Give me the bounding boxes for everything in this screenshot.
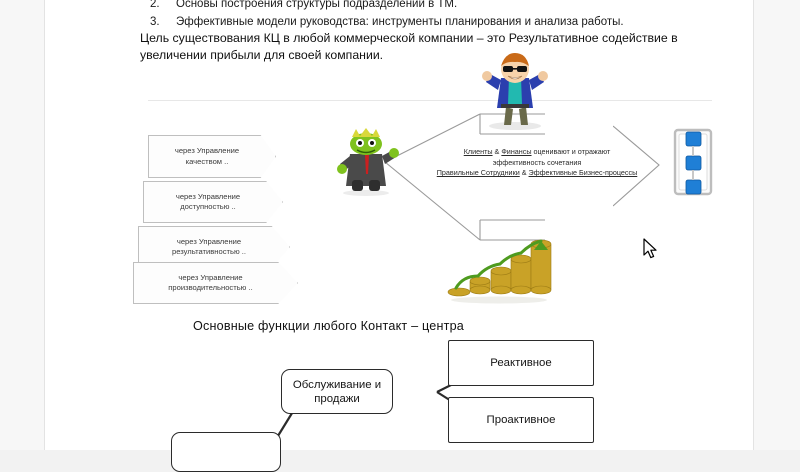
flow-node-label: Проактивное [487,413,556,427]
chevron-line2: доступностью .. [176,202,240,213]
chevron-line1: через Управление [176,192,240,203]
green-monster-figure-icon [333,128,399,196]
document-page: 2. Основы построения структуры подраздел… [45,0,753,450]
section-heading: Основные функции любого Контакт – центра [193,319,464,333]
flow-node-label: Реактивное [490,356,551,370]
chevron-label-availability: через Управление доступностью .. [143,181,283,223]
blue-cubes-frame-icon [673,128,713,196]
mouse-cursor-icon [643,238,659,260]
caption-term-processes: Эффективные Бизнес-процессы [529,168,638,177]
gold-coins-growth-chart-icon [443,226,555,304]
page-gutter-right [753,0,800,450]
caption-line-3: Правильные Сотрудники & Эффективные Бизн… [417,168,657,179]
flow-node-partial-bottom[interactable] [171,432,281,472]
list-item-number: 3. [150,15,176,30]
chevron-line2: результативностью .. [172,247,246,258]
caption-line1-rest: оценивают и отражают [532,147,611,156]
caption-term-finance: Финансы [501,147,531,156]
caption-term-clients: Клиенты [464,147,493,156]
chevron-line2: качеством .. [175,157,239,168]
chevron-label-effectiveness: через Управление результативностью .. [138,226,290,268]
chevron-label-productivity: через Управление производительностью .. [133,262,298,304]
flow-node-line1: Обслуживание и [293,378,381,392]
caption-line-1: Клиенты & Финансы оценивают и отражают [417,147,657,158]
list-item: 3. Эффективные модели руководства: инстр… [150,15,715,30]
divider-line [148,100,712,101]
chevron-line1: через Управление [172,237,246,248]
list-item: 2. Основы построения структуры подраздел… [150,0,715,12]
list-item-number: 2. [150,0,176,12]
chevron-line2: производительностью .. [168,283,252,294]
page-gutter-left [0,0,45,450]
flow-node-proactive[interactable]: Проактивное [448,397,594,443]
flow-node-line2: продажи [293,392,381,406]
numbered-list: 2. Основы построения структуры подраздел… [150,0,715,30]
flow-node-reactive[interactable]: Реактивное [448,340,594,386]
chevron-line1: через Управление [175,146,239,157]
caption-term-staff: Правильные Сотрудники [437,168,520,177]
intro-paragraph: Цель существования КЦ в любой коммерческ… [140,30,712,63]
screenshot-root: 2. Основы построения структуры подраздел… [0,0,800,450]
list-item-text: Эффективные модели руководства: инструме… [176,15,624,30]
diagram-caption: Клиенты & Финансы оценивают и отражают э… [417,147,657,179]
caption-line-2: эффективность сочетания [417,158,657,169]
chevron-label-quality: через Управление качеством .. [148,135,276,178]
flow-node-service-and-sales[interactable]: Обслуживание и продажи [281,369,393,414]
list-item-text: Основы построения структуры подразделени… [176,0,457,12]
cartoon-boss-figure-icon [470,52,560,130]
chevron-line1: через Управление [168,273,252,284]
caption-amp: & [520,168,529,177]
